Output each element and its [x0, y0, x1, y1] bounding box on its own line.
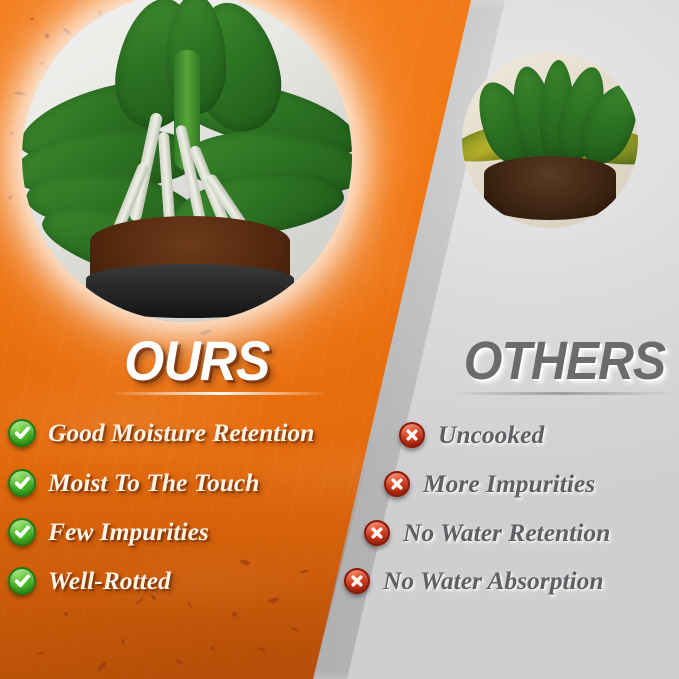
cross-circle-icon — [364, 520, 390, 546]
ours-product-photo — [22, 0, 352, 322]
others-list-item-label: Uncooked — [438, 420, 544, 450]
cross-circle-icon — [344, 568, 370, 594]
others-list-item: More Impurities — [384, 469, 595, 499]
ours-list-item: Moist To The Touch — [8, 468, 259, 498]
ours-list-item: Few Impurities — [8, 517, 209, 547]
cross-circle-icon — [399, 422, 425, 448]
others-list-item: No Water Retention — [364, 518, 610, 548]
others-list-item-label: No Water Absorption — [383, 566, 604, 596]
others-list-item: Uncooked — [399, 420, 544, 450]
others-product-photo — [462, 52, 638, 228]
others-list-item-label: More Impurities — [423, 469, 595, 499]
ours-list-item-label: Few Impurities — [48, 517, 209, 547]
check-circle-icon — [8, 419, 36, 447]
comparison-infographic: OURS OTHERS Good Moisture Retention Mois… — [0, 0, 679, 679]
ours-list-item: Well-Rotted — [8, 566, 171, 596]
others-title-underline — [450, 392, 675, 395]
ours-list-item-label: Good Moisture Retention — [48, 418, 314, 448]
bark-fleck — [121, 638, 124, 644]
ours-title: OURS — [124, 328, 269, 393]
ours-list-item-label: Moist To The Touch — [48, 468, 259, 498]
others-list-item-label: No Water Retention — [403, 518, 610, 548]
check-circle-icon — [8, 567, 36, 595]
ours-list-item: Good Moisture Retention — [8, 418, 314, 448]
check-circle-icon — [8, 469, 36, 497]
check-circle-icon — [8, 518, 36, 546]
others-title: OTHERS — [464, 330, 666, 392]
others-list-item: No Water Absorption — [344, 566, 604, 596]
ours-list-item-label: Well-Rotted — [48, 566, 171, 596]
cross-circle-icon — [384, 471, 410, 497]
ours-title-underline — [110, 392, 330, 395]
